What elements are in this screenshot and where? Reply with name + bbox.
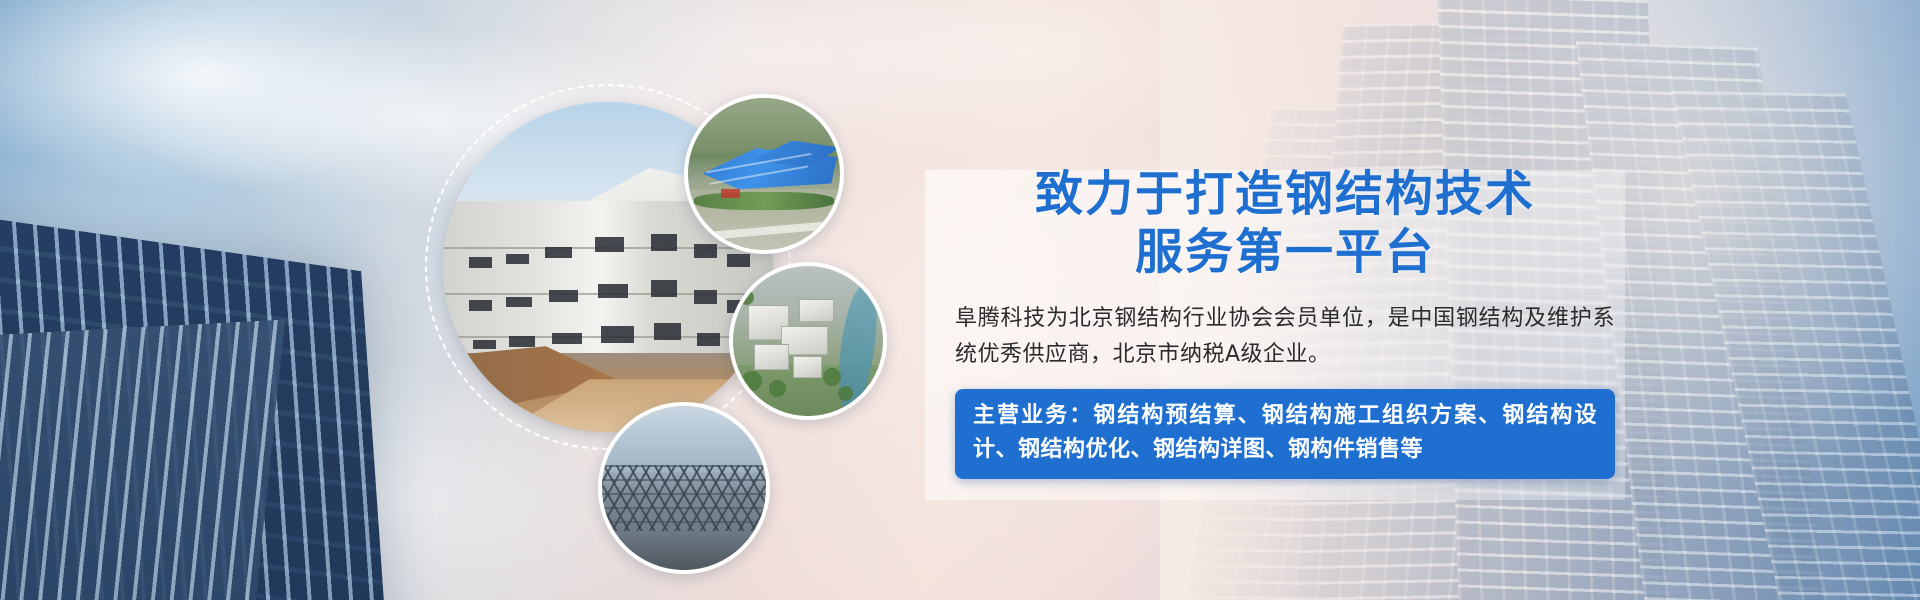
left-glass-building-secondary	[0, 320, 285, 600]
banner-copy: 致力于打造钢结构技术 服务第一平台 阜腾科技为北京钢结构行业协会会员单位，是中国…	[955, 165, 1615, 479]
photo-circle-aerial-blue-roof-plant	[684, 94, 844, 254]
hero-banner: 致力于打造钢结构技术 服务第一平台 阜腾科技为北京钢结构行业协会会员单位，是中国…	[0, 0, 1920, 600]
business-scope-badge: 主营业务：钢结构预结算、钢结构施工组织方案、钢结构设计、钢结构优化、钢结构详图、…	[955, 389, 1615, 479]
photo-circle-aerial-office-campus	[729, 262, 887, 420]
photo-circle-steel-truss-structure	[598, 402, 770, 574]
page-title: 致力于打造钢结构技术 服务第一平台	[955, 165, 1615, 281]
lead-paragraph: 阜腾科技为北京钢结构行业协会会员单位，是中国钢结构及维护系统优秀供应商，北京市纳…	[955, 301, 1615, 373]
